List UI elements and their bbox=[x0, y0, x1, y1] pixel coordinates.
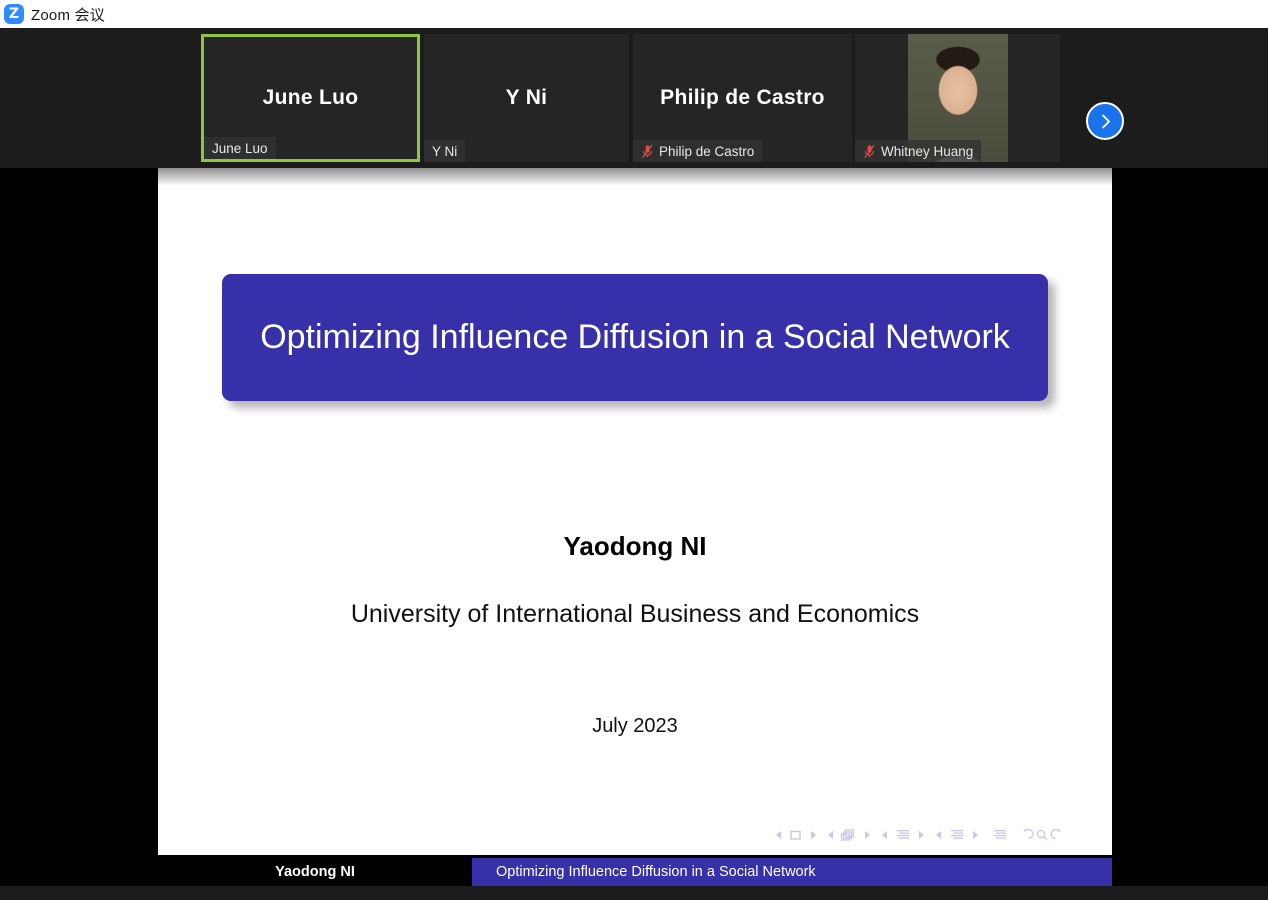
participant-filmstrip: June Luo June Luo Y Ni Y Ni Philip de Ca… bbox=[0, 28, 1268, 168]
participant-name-badge: Whitney Huang bbox=[855, 140, 981, 162]
participant-badge-label: Whitney Huang bbox=[881, 144, 973, 159]
muted-microphone-icon bbox=[641, 144, 654, 159]
beamer-navigation-bar[interactable] bbox=[770, 828, 1068, 842]
slide-date: July 2023 bbox=[158, 715, 1112, 738]
participant-name-badge: Philip de Castro bbox=[633, 140, 762, 162]
doc-toc-icon[interactable] bbox=[947, 828, 967, 842]
appendix-icon[interactable] bbox=[984, 828, 1016, 842]
section-prev-icon[interactable] bbox=[876, 828, 893, 842]
slide-footer-bar: Yaodong NI Optimizing Influence Diffusio… bbox=[158, 858, 1112, 886]
participant-tile-y-ni[interactable]: Y Ni Y Ni bbox=[424, 34, 629, 162]
slide-title-banner: Optimizing Influence Diffusion in a Soci… bbox=[222, 274, 1048, 401]
slide-affiliation: University of International Business and… bbox=[158, 600, 1112, 629]
slide-top-shadow bbox=[158, 168, 1112, 186]
slide-next-icon[interactable] bbox=[805, 828, 822, 842]
forward-icon[interactable] bbox=[1050, 828, 1068, 842]
participant-badge-label: Y Ni bbox=[432, 144, 457, 159]
meeting-toolbar[interactable] bbox=[0, 886, 1268, 900]
chevron-right-icon bbox=[1097, 113, 1114, 130]
muted-microphone-icon bbox=[863, 144, 876, 159]
doc-prev-icon[interactable] bbox=[930, 828, 947, 842]
search-icon[interactable] bbox=[1034, 828, 1050, 842]
section-next-icon[interactable] bbox=[913, 828, 930, 842]
subsection-next-icon[interactable] bbox=[859, 828, 876, 842]
zoom-logo-icon: Z bbox=[4, 4, 24, 24]
presentation-slide: Optimizing Influence Diffusion in a Soci… bbox=[158, 168, 1112, 855]
section-toc-icon[interactable] bbox=[893, 828, 913, 842]
window-title: Zoom 会议 bbox=[31, 4, 105, 25]
slide-frame-icon[interactable] bbox=[787, 828, 805, 842]
participant-name-badge: Y Ni bbox=[424, 140, 465, 162]
participant-tile-philip-de-castro[interactable]: Philip de Castro Philip de Castro bbox=[633, 34, 852, 162]
participant-name-badge: June Luo bbox=[204, 137, 276, 159]
participant-tile-june-luo[interactable]: June Luo June Luo bbox=[201, 34, 420, 162]
window-title-bar: Z Zoom 会议 bbox=[0, 0, 1268, 28]
participant-badge-label: Philip de Castro bbox=[659, 144, 754, 159]
participant-tile-whitney-huang[interactable]: Whitney Huang bbox=[855, 34, 1060, 162]
slide-title: Optimizing Influence Diffusion in a Soci… bbox=[260, 313, 1010, 361]
next-page-button[interactable] bbox=[1086, 102, 1124, 140]
shared-screen-stage: Optimizing Influence Diffusion in a Soci… bbox=[0, 168, 1268, 882]
subsection-frames-icon[interactable] bbox=[839, 828, 859, 842]
slide-footer-title: Optimizing Influence Diffusion in a Soci… bbox=[472, 858, 1112, 886]
back-icon[interactable] bbox=[1016, 828, 1034, 842]
slide-prev-icon[interactable] bbox=[770, 828, 787, 842]
subsection-prev-icon[interactable] bbox=[822, 828, 839, 842]
slide-author: Yaodong NI bbox=[158, 531, 1112, 562]
slide-footer-author: Yaodong NI bbox=[158, 858, 472, 886]
zoom-logo-letter: Z bbox=[9, 7, 19, 21]
participant-badge-label: June Luo bbox=[212, 141, 268, 156]
doc-next-icon[interactable] bbox=[967, 828, 984, 842]
